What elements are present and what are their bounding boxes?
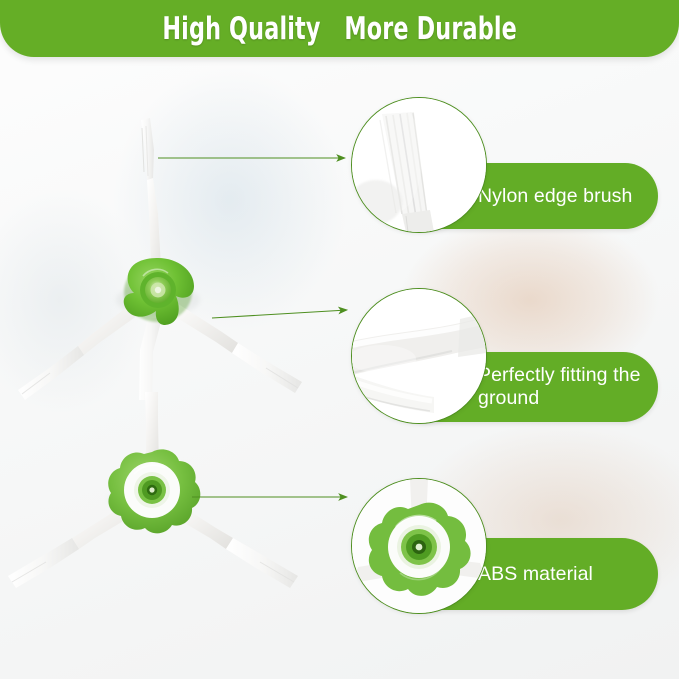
callout-label-nylon-edge-brush: Nylon edge brush	[478, 185, 632, 208]
brush-arm-lower-left	[18, 297, 148, 400]
zoom-circle-perfectly-fitting	[351, 288, 487, 424]
callout-label-abs-material: ABS material	[478, 563, 593, 586]
brush-arm-lower-right	[166, 300, 302, 393]
zoom-circle-nylon-edge-brush	[351, 97, 487, 233]
curved-arm-closeup	[352, 289, 486, 423]
lower-side-brush	[8, 392, 298, 588]
callout-label-perfectly-fitting: Perfectly fitting the ground	[478, 364, 641, 410]
nylon-bristle-tip-closeup	[352, 98, 486, 232]
upper-side-brush	[18, 118, 302, 400]
product-infographic: High Quality More Durable Nylon edge bru…	[0, 0, 679, 679]
brush-arm-down-stub	[139, 318, 162, 400]
zoom-circle-abs-material	[351, 478, 487, 614]
green-hub-closeup	[352, 479, 486, 613]
banner-title: High Quality More Durable	[162, 11, 517, 47]
header-banner: High Quality More Durable	[0, 0, 679, 57]
